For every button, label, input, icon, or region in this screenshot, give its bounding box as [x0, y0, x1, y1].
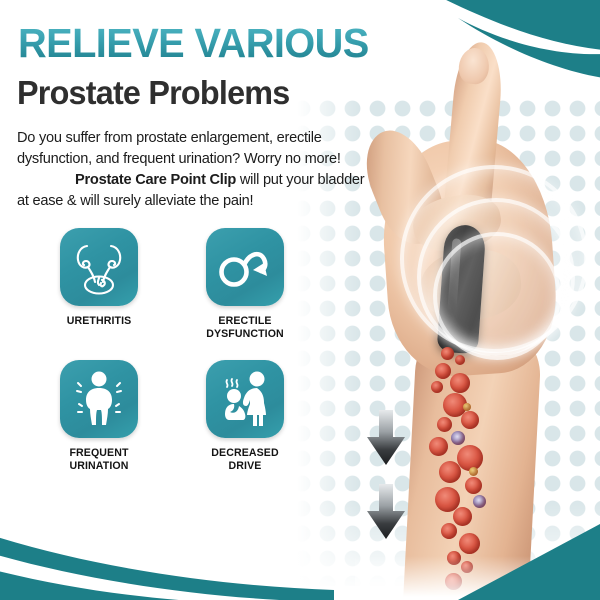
benefit-label-line2: URINATION [70, 460, 129, 472]
bottom-right-corner-wedge [430, 508, 600, 600]
benefit-label-line2: DRIVE [229, 460, 262, 472]
couple-low-libido-icon [217, 370, 273, 428]
person-holding-urge-icon [73, 370, 125, 428]
body-line-4: at ease & will surely alleviate the pain… [17, 193, 253, 209]
down-arrow-icon [366, 410, 406, 466]
product-name: Prostate Care Point Clip [75, 172, 236, 188]
benefit-card-decreased-drive[interactable]: DECREASEDDRIVE [196, 360, 294, 472]
benefit-label: FREQUENTURINATION [69, 447, 128, 472]
advertisement-canvas: RELIEVE VARIOUS Prostate Problems Do you… [0, 0, 600, 600]
benefits-row-1: URETHRITIS ERECTILEDYSFUNCTION [50, 228, 320, 340]
body-copy: Do you suffer from prostate enlargement,… [17, 128, 389, 213]
benefit-label: DECREASEDDRIVE [211, 447, 278, 472]
benefit-label-line1: ERECTILE [218, 315, 271, 327]
body-line-1: Do you suffer from prostate enlargement,… [17, 130, 322, 146]
down-arrow-icon [366, 484, 406, 540]
benefits-grid: URETHRITIS ERECTILEDYSFUNCTION [50, 228, 320, 486]
pulse-ring-inner [433, 232, 561, 360]
benefit-label-line2: DYSFUNCTION [206, 328, 284, 340]
benefit-tile [206, 360, 284, 438]
body-line-3-rest: will put your bladder [236, 172, 364, 188]
benefit-tile [60, 360, 138, 438]
benefit-card-frequent-urination[interactable]: FREQUENTURINATION [50, 360, 148, 472]
male-symbol-drooping-icon [217, 244, 273, 290]
benefit-label-line1: DECREASED [211, 447, 278, 459]
benefit-card-urethritis[interactable]: URETHRITIS [50, 228, 148, 340]
benefits-row-2: FREQUENTURINATION [50, 360, 320, 472]
flow-direction-arrows [366, 410, 406, 558]
bottom-left-swoosh-decoration [0, 524, 334, 600]
body-line-3: Prostate Care Point Clip will put your b… [17, 170, 389, 191]
benefit-label: URETHRITIS [67, 315, 132, 328]
page-subtitle: Prostate Problems [17, 76, 289, 109]
benefit-label-line1: FREQUENT [69, 447, 128, 459]
benefit-card-erectile-dysfunction[interactable]: ERECTILEDYSFUNCTION [196, 228, 294, 340]
urinary-tract-icon [72, 238, 126, 296]
benefit-label: ERECTILEDYSFUNCTION [206, 315, 284, 340]
body-line-2: dysfunction, and frequent urination? Wor… [17, 151, 341, 167]
benefit-tile [60, 228, 138, 306]
page-title: RELIEVE VARIOUS [18, 23, 406, 64]
benefit-tile [206, 228, 284, 306]
